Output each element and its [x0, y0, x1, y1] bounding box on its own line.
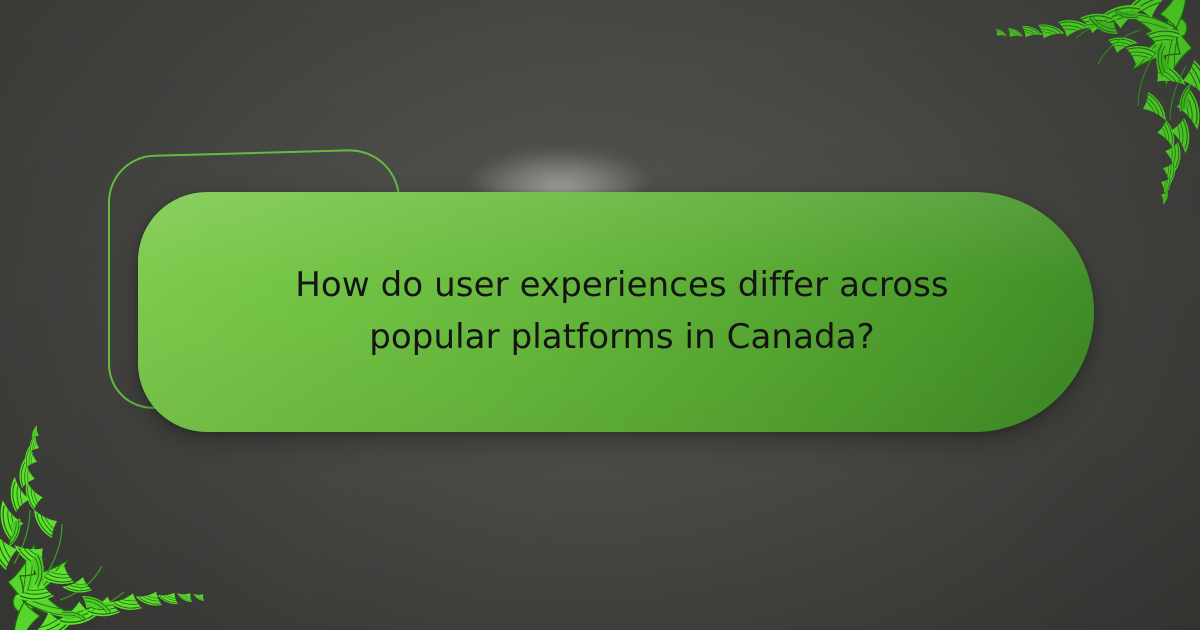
question-card: How do user experiences differ across po… [138, 192, 1094, 432]
slide-canvas: How do user experiences differ across po… [0, 0, 1200, 630]
floral-filigree-corner-top-right-icon [980, 0, 1200, 220]
question-text: How do user experiences differ across po… [270, 260, 962, 363]
floral-filigree-corner-bottom-left-icon [0, 410, 220, 630]
